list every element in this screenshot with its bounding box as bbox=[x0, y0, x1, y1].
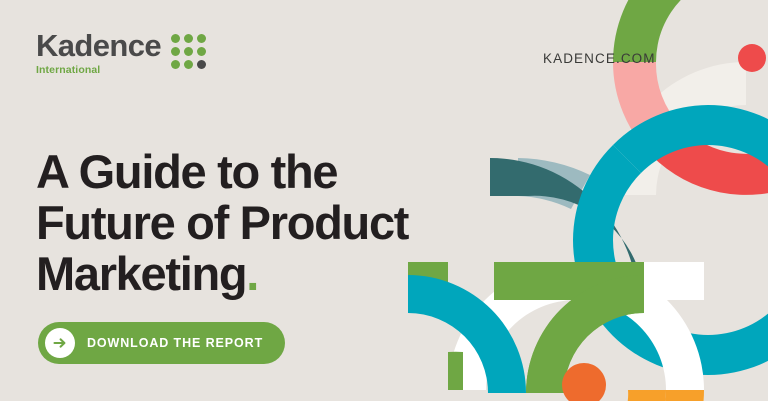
brand-logo[interactable]: Kadence International bbox=[36, 30, 206, 76]
ring-teal-right-segment bbox=[708, 105, 768, 375]
download-report-button[interactable]: DOWNLOAD THE REPORT bbox=[38, 322, 285, 364]
logo-dot bbox=[171, 47, 180, 56]
ring-teal-left-segment bbox=[573, 145, 641, 240]
logo-dot bbox=[171, 34, 180, 43]
logo-dot-accent bbox=[197, 60, 206, 69]
ring-orange-segment bbox=[576, 390, 704, 401]
logo-dot bbox=[184, 34, 193, 43]
ring-top-pink-segment bbox=[613, 62, 680, 156]
red-dot bbox=[738, 44, 766, 72]
ring-teal-upper-segment bbox=[613, 105, 708, 173]
logo-wordmark: Kadence bbox=[36, 30, 161, 61]
ring-offwhite-segment bbox=[613, 62, 746, 195]
logo-dot-grid-icon bbox=[171, 34, 206, 69]
ring-top-red-segment bbox=[652, 62, 768, 195]
ring-orange-inner bbox=[576, 390, 666, 401]
logo-dot bbox=[197, 47, 206, 56]
ring-white-bar bbox=[644, 262, 704, 300]
headline-line-1: A Guide to the bbox=[36, 145, 337, 198]
orange-circle bbox=[562, 363, 606, 401]
ring-white-segment-right bbox=[576, 262, 704, 390]
headline-accent-period: . bbox=[246, 247, 258, 300]
headline-line-3: Marketing bbox=[36, 247, 246, 300]
page-title: A Guide to theFuture of ProductMarketing… bbox=[36, 147, 556, 299]
arrow-right-icon bbox=[45, 328, 75, 358]
headline-line-2: Future of Product bbox=[36, 196, 408, 249]
logo-tagline: International bbox=[36, 65, 161, 76]
ring-green-nub bbox=[448, 352, 463, 390]
logo-dot bbox=[184, 60, 193, 69]
site-url-label[interactable]: KADENCE.COM bbox=[543, 51, 656, 66]
logo-dot bbox=[197, 34, 206, 43]
logo-dot bbox=[184, 47, 193, 56]
ring-teal-lower-segment bbox=[573, 240, 708, 375]
promo-banner: Kadence International KADENCE.COM A Guid… bbox=[0, 0, 768, 401]
logo-text: Kadence International bbox=[36, 30, 161, 76]
logo-dot bbox=[171, 60, 180, 69]
download-report-label: DOWNLOAD THE REPORT bbox=[87, 336, 263, 350]
